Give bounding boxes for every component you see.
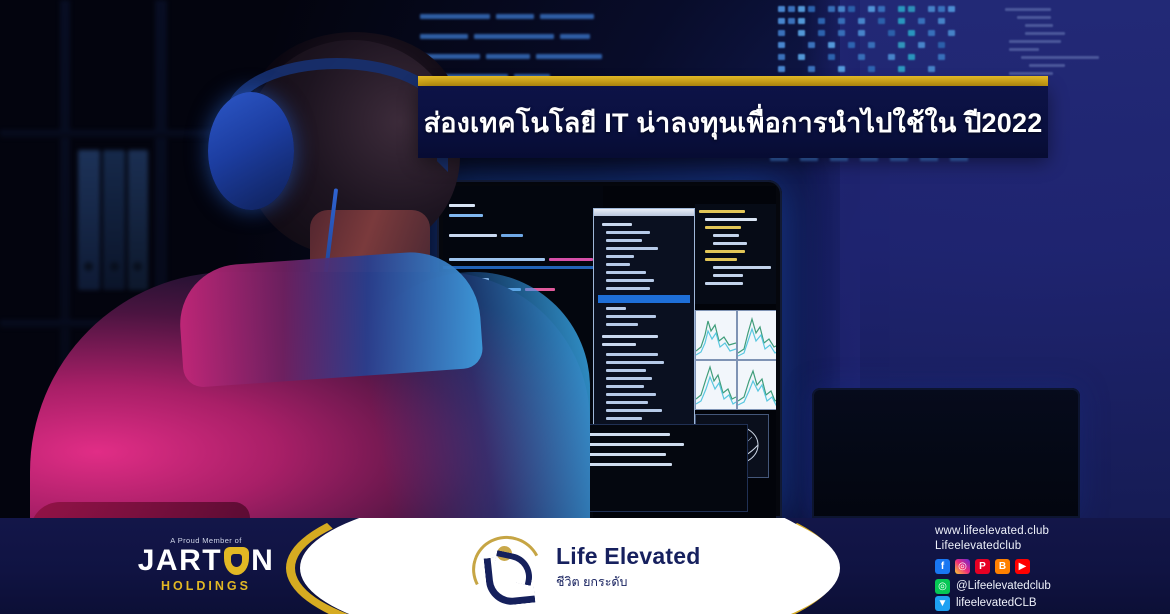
waveform-chart-2	[737, 310, 776, 360]
facebook-icon[interactable]: f	[935, 559, 950, 574]
line-handle: @Lifeelevatedclub	[956, 578, 1051, 595]
headline-gold-bar	[418, 76, 1048, 86]
shirt-collar	[176, 248, 484, 389]
life-elevated-logo: Life Elevated ชีวิต ยกระดับ	[470, 534, 701, 602]
twitter-icon[interactable]: ▼	[935, 596, 950, 611]
line-icon[interactable]: ◎	[935, 579, 950, 594]
headphone-earcup	[208, 92, 294, 210]
life-elevated-title: Life Elevated	[556, 544, 701, 568]
headline-text: ส่องเทคโนโลยี IT น่าลงทุนเพื่อการนำไปใช้…	[424, 101, 1043, 144]
life-elevated-text: Life Elevated ชีวิต ยกระดับ	[556, 544, 701, 591]
youtube-icon[interactable]: ▶	[1015, 559, 1030, 574]
twitter-handle: lifeelevatedCLB	[956, 595, 1037, 612]
headline-banner: ส่องเทคโนโลยี IT น่าลงทุนเพื่อการนำไปใช้…	[418, 76, 1048, 158]
life-elevated-mark-icon	[470, 534, 542, 602]
jarton-wordmark: JART N	[118, 546, 294, 576]
object-tree-panel	[695, 204, 776, 304]
jarton-shield-o-icon	[224, 547, 249, 575]
secondary-monitor	[812, 388, 1080, 518]
waveform-chart-1	[695, 310, 737, 360]
waveform-chart-3	[695, 360, 737, 410]
banner-canvas: ส่องเทคโนโลยี IT น่าลงทุนเพื่อการนำไปใช้…	[0, 0, 1170, 614]
jarton-holdings-logo: A Proud Member of JART N HOLDINGS	[118, 536, 294, 593]
jarton-subtitle: HOLDINGS	[118, 579, 294, 593]
twitter-contact-row[interactable]: ▼ lifeelevatedCLB	[935, 595, 1165, 612]
waveform-chart-4	[737, 360, 776, 410]
pinterest-icon[interactable]: P	[975, 559, 990, 574]
chair-back	[30, 502, 250, 518]
social-icon-row: f ◎ P B ▶	[935, 559, 1165, 574]
background-tree-list	[995, 4, 1145, 84]
headline-panel: ส่องเทคโนโลยี IT น่าลงทุนเพื่อการนำไปใช้…	[418, 86, 1048, 158]
contact-block: www.lifeelevated.club Lifeelevatedclub f…	[935, 524, 1165, 612]
line-contact-row[interactable]: ◎ @Lifeelevatedclub	[935, 578, 1165, 595]
blogger-icon[interactable]: B	[995, 559, 1010, 574]
instagram-icon[interactable]: ◎	[955, 559, 970, 574]
jarton-name-right: N	[251, 546, 274, 576]
website-url[interactable]: www.lifeelevated.club	[935, 524, 1165, 539]
page-name: Lifeelevatedclub	[935, 539, 1165, 554]
jarton-name-left: JART	[138, 546, 222, 576]
life-elevated-subtitle: ชีวิต ยกระดับ	[556, 572, 701, 592]
